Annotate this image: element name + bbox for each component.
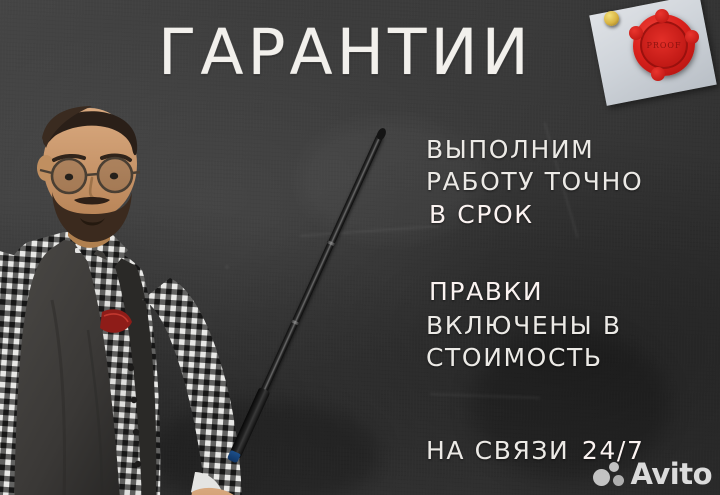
avito-wordmark: Avito (630, 460, 712, 489)
claims-list: ВЫПОЛНИМ РАБОТУ ТОЧНО В СРОК ПРАВКИ ВКЛЮ… (426, 134, 711, 400)
wax-seal-label: PROOF (633, 14, 695, 76)
claim-text-highlighted: ПРАВКИ (426, 275, 548, 310)
wax-seal-icon: PROOF (633, 14, 695, 76)
presenter-figure (0, 100, 262, 495)
claim-text: НА СВЯЗИ (426, 436, 569, 465)
claim-text: ВЫПОЛНИМ (426, 135, 594, 164)
avito-watermark: Avito (593, 460, 712, 489)
claim-line: СТОИМОСТЬ (426, 342, 711, 374)
claim-line: В СРОК (426, 198, 711, 233)
claim-text: ВКЛЮЧЕНЫ В (426, 311, 622, 340)
claim-block: ПРАВКИ ВКЛЮЧЕНЫ В СТОИМОСТЬ (426, 275, 711, 374)
pointer-segment-joint (326, 240, 335, 246)
claim-block: ВЫПОЛНИМ РАБОТУ ТОЧНО В СРОК (426, 134, 711, 233)
claim-line: ВКЛЮЧЕНЫ В (426, 310, 711, 342)
pointer-segment-joint (290, 319, 299, 325)
page-title: ГАРАНТИИ (158, 16, 533, 89)
claim-text: СТОИМОСТЬ (426, 343, 603, 372)
claim-text: РАБОТУ ТОЧНО (426, 167, 643, 196)
chalkboard-promo-image: ГАРАНТИИ PROOF (0, 0, 720, 495)
avito-logo-icon (593, 462, 627, 488)
claim-line: РАБОТУ ТОЧНО (426, 166, 711, 198)
claim-text-highlighted: В СРОК (426, 198, 539, 233)
pushpin-icon (604, 11, 619, 26)
claim-line: ВЫПОЛНИМ (426, 134, 711, 166)
claim-line: ПРАВКИ (426, 275, 711, 310)
